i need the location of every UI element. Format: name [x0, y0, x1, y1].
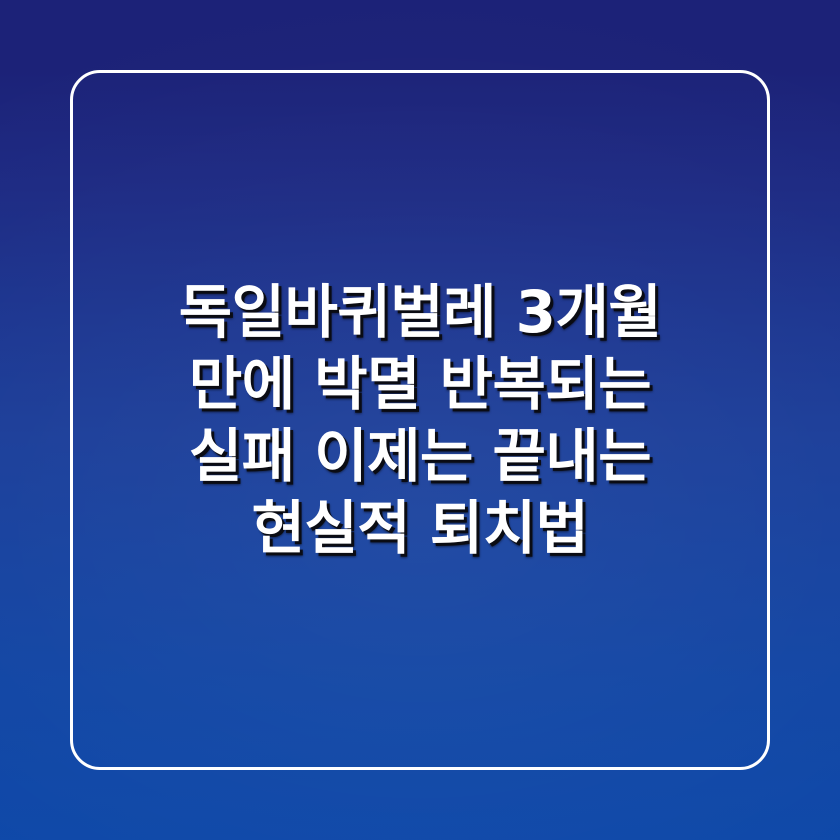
decorative-border-frame: [70, 70, 770, 770]
poster-canvas: 독일바퀴벌레 3개월 만에 박멸 반복되는 실패 이제는 끝내는 현실적 퇴치법: [0, 0, 840, 840]
